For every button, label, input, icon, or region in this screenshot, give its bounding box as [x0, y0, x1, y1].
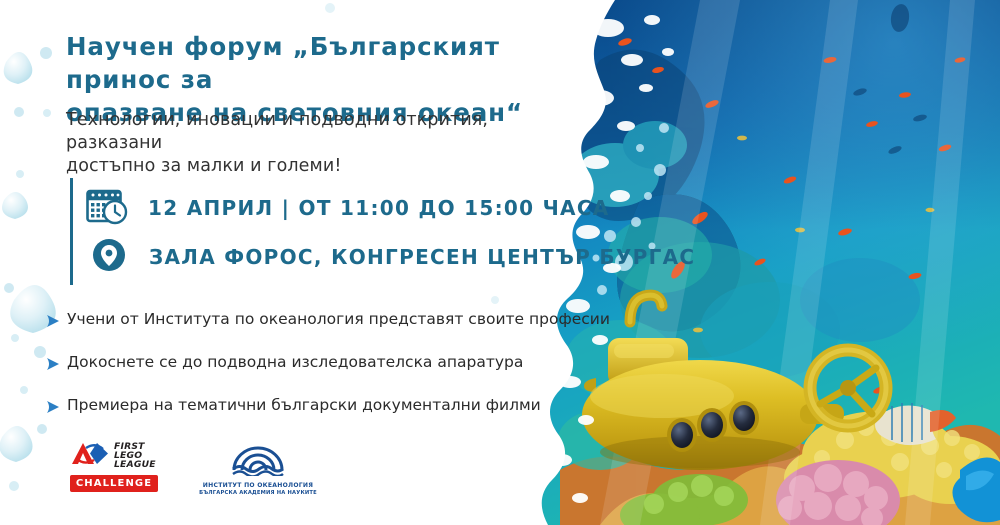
info-divider-rule	[70, 178, 73, 285]
page-subtitle: Технологии, иновации и подводни открития…	[66, 109, 571, 178]
arrow-right-bullet-icon	[46, 313, 61, 332]
fll-challenge-banner: CHALLENGE	[70, 475, 158, 492]
logo-strip: FIRST LEGO LEAGUE CHALLENGE	[70, 440, 318, 496]
oceanology-name-line-1: ИНСТИТУТ ПО ОКЕАНОЛОГИЯ	[198, 482, 318, 489]
list-item: Премиера на тематични български документ…	[46, 396, 606, 418]
oceanology-name-line-2: БЪЛГАРСКА АКАДЕМИЯ НА НАУКИТЕ	[198, 490, 318, 496]
title-line-1: Научен форум „Българският принос за	[66, 30, 586, 96]
subtitle-line-2: достъпно за малки и големи!	[66, 155, 571, 178]
list-item: Докоснете се до подводна изследователска…	[46, 353, 606, 375]
event-date-text: 12 АПРИЛ | ОТ 11:00 ДО 15:00 ЧАСА	[148, 196, 610, 220]
subtitle-line-1: Технологии, иновации и подводни открития…	[66, 109, 571, 155]
arrow-right-bullet-icon	[46, 356, 61, 375]
institute-of-oceanology-logo: ИНСТИТУТ ПО ОКЕАНОЛОГИЯ БЪЛГАРСКА АКАДЕМ…	[198, 440, 318, 496]
arrow-right-bullet-icon	[46, 399, 61, 418]
list-item-label: Учени от Института по океанология предст…	[67, 310, 610, 329]
first-lego-league-logo: FIRST LEGO LEAGUE CHALLENGE	[70, 440, 158, 492]
event-date-row: 12 АПРИЛ | ОТ 11:00 ДО 15:00 ЧАСА	[86, 186, 610, 230]
event-location-row: ЗАЛА ФОРОС, КОНГРЕСЕН ЦЕНТЪР БУРГАС	[92, 238, 695, 276]
fll-word-league: LEAGUE	[114, 460, 156, 469]
list-item: Учени от Института по океанология предст…	[46, 310, 606, 332]
event-location-text: ЗАЛА ФОРОС, КОНГРЕСЕН ЦЕНТЪР БУРГАС	[149, 245, 695, 269]
first-lego-league-icon	[70, 440, 110, 471]
map-pin-icon	[92, 238, 126, 276]
content-column: Научен форум „Българският принос за опаз…	[0, 0, 620, 525]
list-item-label: Докоснете се до подводна изследователска…	[67, 353, 523, 372]
oceanology-arch-wave-icon	[230, 461, 286, 480]
highlights-list: Учени от Института по океанология предст…	[46, 310, 606, 439]
calendar-clock-icon	[86, 186, 128, 230]
poster-canvas: Научен форум „Българският принос за опаз…	[0, 0, 1000, 525]
list-item-label: Премиера на тематични български документ…	[67, 396, 541, 415]
